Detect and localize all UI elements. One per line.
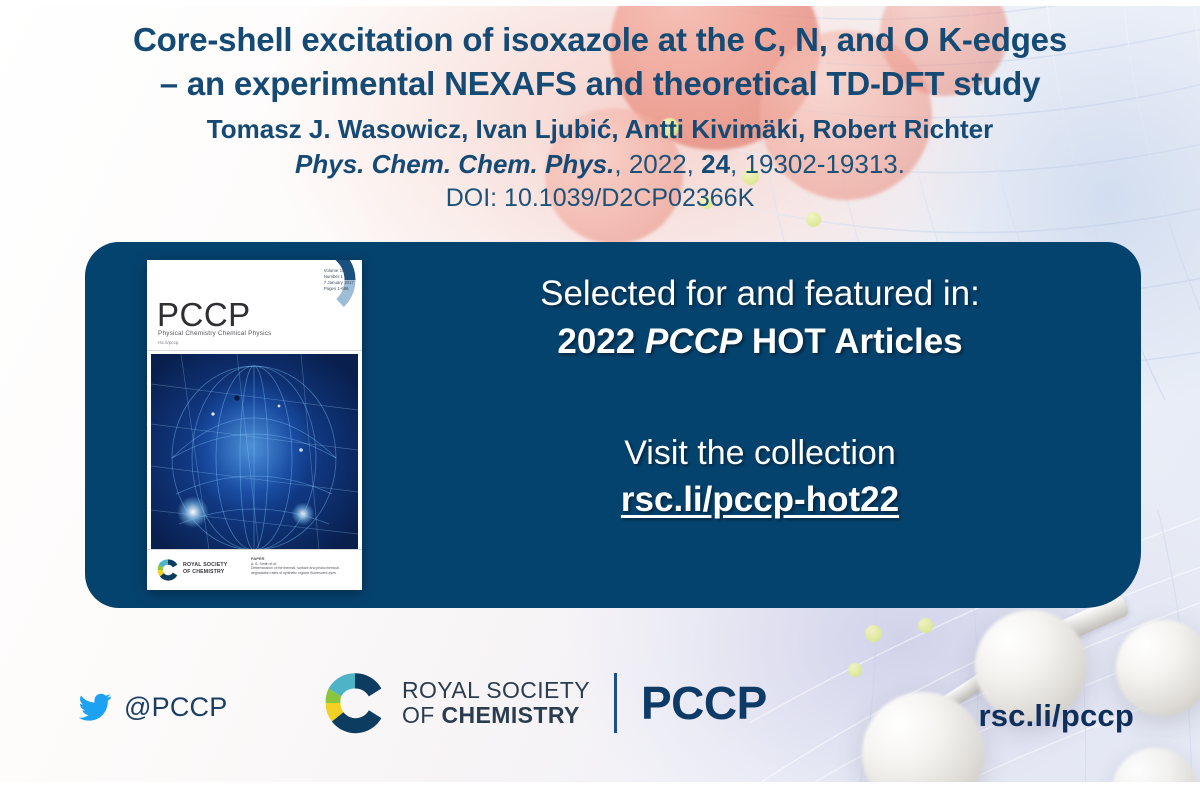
cover-paper-blurb: PAPER A. B. Smith et al. Determination o… bbox=[251, 557, 355, 575]
citation-sep-3: , bbox=[730, 149, 744, 179]
panel-highlight-journal: PCCP bbox=[645, 322, 742, 361]
twitter-block[interactable]: @PCCP bbox=[78, 692, 227, 723]
top-white-strip bbox=[0, 0, 1200, 6]
cover-subtitle: Physical Chemistry Chemical Physics bbox=[158, 330, 272, 337]
twitter-handle-label: @PCCP bbox=[124, 692, 227, 723]
panel-visit-text: Visit the collection bbox=[415, 430, 1105, 476]
cover-paper-authors: A. B. Smith et al. bbox=[251, 562, 277, 566]
cover-footer-area: ROYAL SOCIETY OF CHEMISTRY PAPER A. B. S… bbox=[147, 549, 362, 590]
cover-masthead: PCCP bbox=[157, 296, 251, 334]
panel-highlight-text: 2022 PCCP HOT Articles bbox=[415, 318, 1105, 366]
cover-publisher-line2: OF CHEMISTRY bbox=[183, 569, 224, 575]
twitter-bird-icon[interactable] bbox=[78, 693, 112, 723]
cover-paper-title: Determination of the thermal, surface an… bbox=[251, 566, 339, 575]
rsc-c-logo-icon bbox=[156, 558, 180, 582]
feature-panel: Volume 19Number 17 January 2017Pages 1-6… bbox=[85, 242, 1141, 608]
cover-subtitle-url: rsc.li/pccp bbox=[158, 340, 178, 345]
lockup-journal-name: PCCP bbox=[641, 676, 767, 730]
title-line-1: Core-shell excitation of isoxazole at th… bbox=[0, 18, 1200, 62]
author-list: Tomasz J. Wasowicz, Ivan Ljubić, Antti K… bbox=[0, 106, 1200, 146]
cover-masthead-area: Volume 19Number 17 January 2017Pages 1-6… bbox=[147, 260, 362, 351]
cover-dome-lines bbox=[151, 354, 358, 550]
panel-lead-text: Selected for and featured in: bbox=[415, 270, 1105, 318]
journal-cover-image: Volume 19Number 17 January 2017Pages 1-6… bbox=[147, 260, 362, 590]
panel-highlight-suffix: HOT Articles bbox=[742, 322, 962, 361]
cover-publisher-line1: ROYAL SOCIETY bbox=[183, 562, 227, 568]
citation-sep-2: , bbox=[687, 149, 701, 179]
cover-volume-info: Volume 19Number 17 January 2017Pages 1-6… bbox=[324, 268, 354, 292]
lime-dot-6 bbox=[918, 618, 933, 633]
citation-year: 2022 bbox=[629, 149, 687, 179]
rsc-c-logo-icon bbox=[322, 670, 388, 736]
lime-dot-7 bbox=[848, 663, 862, 677]
citation-sep-1: , bbox=[614, 149, 628, 179]
header-block: Core-shell excitation of isoxazole at th… bbox=[0, 0, 1200, 215]
rsc-wordmark-line1: ROYAL SOCIETY bbox=[402, 678, 590, 703]
bottom-white-strip bbox=[0, 782, 1200, 800]
lockup-divider bbox=[614, 673, 617, 733]
rsc-wordmark-of: OF bbox=[402, 702, 442, 728]
journal-name: Phys. Chem. Chem. Phys. bbox=[295, 149, 614, 179]
rsc-wordmark-chemistry: CHEMISTRY bbox=[442, 702, 580, 728]
panel-highlight-prefix: 2022 bbox=[557, 322, 645, 361]
cover-publisher-name: ROYAL SOCIETY OF CHEMISTRY bbox=[183, 562, 227, 576]
page-title: Core-shell excitation of isoxazole at th… bbox=[0, 0, 1200, 106]
doi-line: DOI: 10.1039/D2CP02366K bbox=[0, 181, 1200, 215]
citation-volume: 24 bbox=[701, 149, 730, 179]
rsc-wordmark: ROYAL SOCIETY OF CHEMISTRY bbox=[402, 678, 590, 728]
rsc-wordmark-line2: OF CHEMISTRY bbox=[402, 703, 590, 728]
collection-link[interactable]: rsc.li/pccp-hot22 bbox=[621, 476, 899, 524]
cover-paper-type: PAPER bbox=[251, 556, 264, 561]
cover-artwork-photo bbox=[151, 354, 358, 550]
title-line-2: – an experimental NEXAFS and theoretical… bbox=[0, 62, 1200, 106]
citation-line: Phys. Chem. Chem. Phys., 2022, 24, 19302… bbox=[0, 146, 1200, 181]
lime-dot-5 bbox=[865, 625, 882, 642]
panel-copy-block: Selected for and featured in: 2022 PCCP … bbox=[415, 270, 1105, 524]
rsc-url-label[interactable]: rsc.li/pccp bbox=[978, 698, 1134, 734]
pccp-hot-article-poster: Core-shell excitation of isoxazole at th… bbox=[0, 0, 1200, 800]
citation-pages: 19302-19313. bbox=[744, 149, 904, 179]
rsc-pccp-lockup: ROYAL SOCIETY OF CHEMISTRY PCCP bbox=[322, 670, 767, 736]
